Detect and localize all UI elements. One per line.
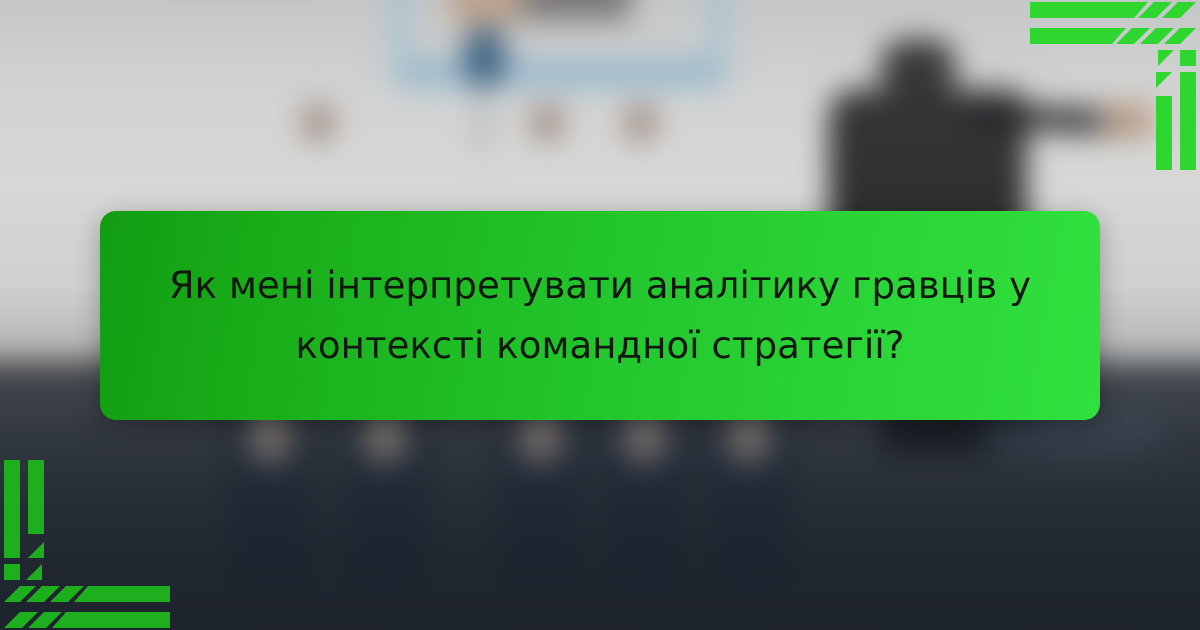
background-board [985,414,1162,456]
background-person-head [881,39,956,97]
corner-stripes-icon [1030,0,1200,170]
background-face [529,102,564,144]
background-face [300,102,335,144]
corner-stripes-bottom-left [0,460,170,630]
corner-stripes-top-right [1030,0,1200,170]
question-text: Як мені інтерпретувати аналітику гравців… [160,256,1040,376]
background-face [623,102,658,144]
poster-canvas: Як мені інтерпретувати аналітику гравців… [0,0,1200,630]
corner-stripes-icon [0,460,170,630]
background-knot [463,25,507,89]
question-card: Як мені інтерпретувати аналітику гравців… [100,211,1100,420]
background-rope [477,81,486,154]
